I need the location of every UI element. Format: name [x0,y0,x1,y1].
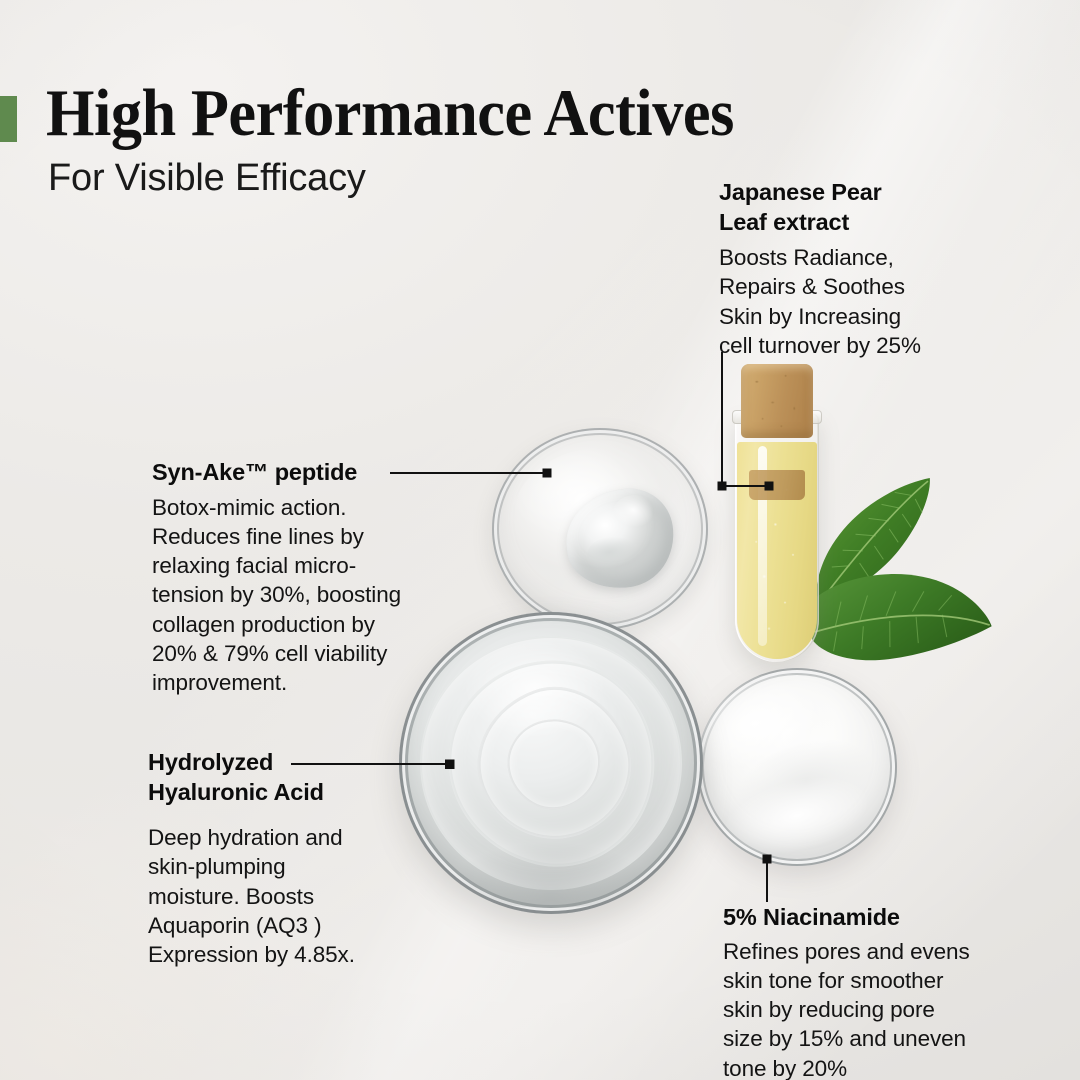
callout-body: Refines pores and evens skin tone for sm… [723,937,975,1080]
pear-leaf-lower-icon [808,554,998,682]
test-tube [735,362,819,662]
test-tube-glass [735,414,819,662]
white-powder-petri-dish [697,668,897,866]
cream-shadow [423,799,678,908]
page-title: High Performance Actives [46,78,734,148]
white-cream-petri-dish [399,612,703,914]
callout-heading: Hydrolyzed Hyaluronic Acid [148,748,408,807]
callout-heading: 5% Niacinamide [723,903,975,933]
callout-heading: Japanese Pear Leaf extract [719,178,951,237]
infographic-canvas: High Performance Actives For Visible Eff… [0,0,1080,1080]
test-tube-cork-insert [749,470,805,500]
callout-syn-ake-peptide: Syn-Ake™ peptide Botox-mimic action. Red… [152,458,424,697]
callout-body: Botox-mimic action. Reduces fine lines b… [152,493,424,698]
callout-5-percent-niacinamide: 5% Niacinamide Refines pores and evens s… [723,903,975,1080]
callout-body: Boosts Radiance, Repairs & Soothes Skin … [719,243,951,360]
accent-bar [0,96,17,142]
test-tube-cork [741,364,813,438]
callout-hydrolyzed-hyaluronic-acid: Hydrolyzed Hyaluronic Acid Deep hydratio… [148,748,408,969]
callout-heading: Syn-Ake™ peptide [152,458,424,488]
callout-body: Deep hydration and skin-plumping moistur… [148,823,408,969]
callout-japanese-pear-leaf-extract: Japanese Pear Leaf extract Boosts Radian… [719,178,951,360]
page-subtitle: For Visible Efficacy [48,157,366,200]
